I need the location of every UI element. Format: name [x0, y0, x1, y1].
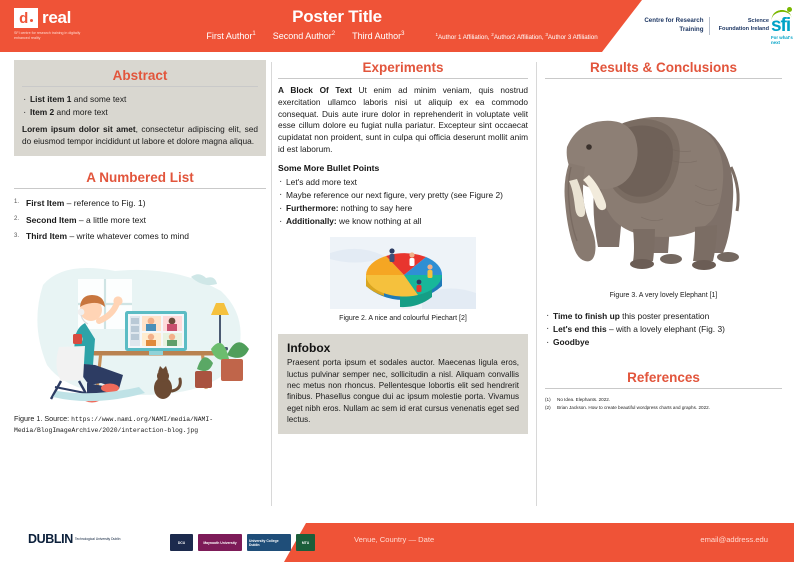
- list-item: Time to finish up this poster presentati…: [545, 310, 782, 322]
- conclusions-bullet-list: Time to finish up this poster presentati…: [545, 310, 782, 349]
- right-column: Results & Conclusions: [545, 60, 782, 412]
- reference-2-text: Brian Jackson. How to create beautiful w…: [557, 404, 710, 412]
- author-3: Third Author3: [352, 31, 404, 41]
- list-item: Maybe reference our next figure, very pr…: [278, 189, 528, 201]
- abstract-bullet-2-rest: and more text: [54, 107, 108, 117]
- numbered-item-3-rest: – write whatever comes to mind: [67, 231, 189, 241]
- tu-dublin-logo: DUBLIN Technological University Dublin: [28, 533, 120, 546]
- abstract-paragraph-bold: Lorem ipsum dolor sit amet: [22, 124, 136, 134]
- abstract-bullet-list: List item 1 and some text Item 2 and mor…: [22, 93, 258, 118]
- numbered-list-title: A Numbered List: [14, 170, 266, 188]
- author-2: Second Author2: [273, 31, 335, 41]
- tu-dublin-wordmark: DUBLIN: [28, 533, 73, 546]
- exp-bullet-2-rest: Maybe reference our next figure, very pr…: [286, 190, 503, 200]
- figure-2-caption: Figure 2. A nice and colourful Piechart …: [278, 314, 528, 324]
- author-2-name: Second Author: [273, 31, 332, 41]
- infobox-text: Praesent porta ipsum et sodales auctor. …: [287, 357, 519, 425]
- numbered-list-section: A Numbered List First Item – reference t…: [14, 170, 266, 243]
- list-item: (2) Brian Jackson. How to create beautif…: [545, 404, 782, 412]
- middle-column: Experiments A Block Of Text Ut enim ad m…: [278, 60, 528, 434]
- experiments-rule: [278, 78, 528, 79]
- list-item: Furthermore: nothing to say here: [278, 202, 528, 214]
- concl-bullet-2-rest: – with a lovely elephant (Fig. 3): [607, 324, 725, 334]
- abstract-bullet-1-rest: and some text: [71, 94, 126, 104]
- exp-bullet-1-rest: Let's add more text: [286, 177, 357, 187]
- author-3-sup: 3: [401, 31, 404, 37]
- concl-bullet-1-rest: this poster presentation: [620, 311, 709, 321]
- infobox-section: Infobox Praesent porta ipsum et sodales …: [278, 334, 528, 434]
- exp-bullet-3-rest: nothing to say here: [339, 203, 413, 213]
- references-list: (1) No Idea. Elephants. 2022. (2) Brian …: [545, 396, 782, 412]
- figure-1-image: [14, 255, 266, 403]
- partner-logos: DCU Maynooth University University Colle…: [170, 534, 315, 551]
- numbered-item-2-bold: Second Item: [26, 215, 77, 225]
- poster-header: d real SFI centre for research training …: [0, 0, 794, 52]
- bullets-heading: Some More Bullet Points: [278, 163, 528, 173]
- list-item: Item 2 and more text: [22, 106, 258, 118]
- infobox-title: Infobox: [287, 341, 519, 355]
- abstract-title: Abstract: [22, 66, 258, 86]
- header-logos-panel: Centre for Research Training Science Fou…: [642, 0, 794, 52]
- figure-1-caption-label: Figure 1. Source:: [14, 414, 69, 423]
- experiments-paragraph-bold: A Block Of Text: [278, 85, 352, 95]
- figure-3-caption: Figure 3. A very lovely Elephant [1]: [545, 291, 782, 301]
- figure-1-caption: Figure 1. Source: https://www.nami.org/N…: [14, 414, 266, 435]
- figure-3-image: [545, 89, 782, 281]
- affiliation-2-text: Author2 Affiliation,: [494, 34, 544, 41]
- experiments-paragraph: A Block Of Text Ut enim ad minim veniam,…: [278, 85, 528, 156]
- footer-rule: [0, 520, 794, 523]
- poster-body: Abstract List item 1 and some text Item …: [0, 52, 794, 520]
- abstract-bullet-2-bold: Item 2: [30, 107, 54, 117]
- list-item: Additionally: we know nothing at all: [278, 215, 528, 227]
- tu-dublin-subtitle: Technological University Dublin: [75, 537, 121, 542]
- concl-bullet-2-bold: Let's end this: [553, 324, 607, 334]
- concl-bullet-1-bold: Time to finish up: [553, 311, 620, 321]
- results-rule: [545, 78, 782, 79]
- experiments-title: Experiments: [278, 60, 528, 78]
- reference-2-number: (2): [545, 404, 554, 412]
- figure-2-image: [330, 237, 476, 309]
- experiments-paragraph-rest: Ut enim ad minim veniam, quis nostrud ex…: [278, 85, 528, 154]
- list-item: Second Item – a little more text: [14, 214, 266, 227]
- exp-bullet-4-rest: we know nothing at all: [337, 216, 422, 226]
- reference-1-number: (1): [545, 396, 554, 404]
- list-item: List item 1 and some text: [22, 93, 258, 105]
- affiliation-3-text: Author 3 Affiliation: [548, 34, 598, 41]
- author-1-sup: 1: [252, 31, 255, 37]
- author-2-sup: 2: [332, 31, 335, 37]
- affiliation-1-text: Author 1 Affiliation,: [438, 34, 489, 41]
- author-1: First Author1: [206, 31, 255, 41]
- list-item: (1) No Idea. Elephants. 2022.: [545, 396, 782, 404]
- list-item: Let's end this – with a lovely elephant …: [545, 323, 782, 335]
- exp-bullet-3-bold: Furthermore:: [286, 203, 339, 213]
- column-divider-1: [271, 62, 272, 506]
- sfi-mark-block: sfi For what's next: [771, 7, 794, 44]
- list-item: Let's add more text: [278, 176, 528, 188]
- abstract-section: Abstract List item 1 and some text Item …: [14, 60, 266, 156]
- left-column: Abstract List item 1 and some text Item …: [14, 60, 266, 435]
- partner-logo-ucd: University College Dublin: [247, 534, 291, 551]
- concl-bullet-3-bold: Goodbye: [553, 337, 589, 347]
- references-section: References (1) No Idea. Elephants. 2022.…: [545, 370, 782, 412]
- results-title: Results & Conclusions: [545, 60, 782, 78]
- numbered-item-1-rest: – reference to Fig. 1): [64, 198, 145, 208]
- list-item: Goodbye: [545, 336, 782, 348]
- affiliations: 1Author 1 Affiliation, 2Author2 Affiliat…: [435, 32, 597, 41]
- abstract-paragraph: Lorem ipsum dolor sit amet, consectetur …: [22, 124, 258, 148]
- references-rule: [545, 388, 782, 389]
- sfi-words: Science Foundation Ireland: [716, 18, 769, 33]
- numbered-list: First Item – reference to Fig. 1) Second…: [14, 197, 266, 243]
- numbered-item-2-rest: – a little more text: [77, 215, 146, 225]
- numbered-list-rule: [14, 188, 266, 189]
- numbered-item-3-bold: Third Item: [26, 231, 67, 241]
- partner-logo-dcu: DCU: [170, 534, 193, 551]
- list-item: First Item – reference to Fig. 1): [14, 197, 266, 210]
- partner-logo-maynooth: Maynooth University: [198, 534, 242, 551]
- sfi-dot-icon: [787, 7, 792, 12]
- crt-label: Centre for Research Training: [642, 17, 710, 35]
- sfi-tagline: For what's next: [771, 35, 794, 45]
- list-item: Third Item – write whatever comes to min…: [14, 230, 266, 243]
- author-1-name: First Author: [206, 31, 252, 41]
- column-divider-2: [536, 62, 537, 506]
- sfi-logo: Science Foundation Ireland sfi For what'…: [716, 7, 794, 44]
- footer-email-text[interactable]: email@address.edu: [700, 535, 768, 544]
- sfi-swoosh-icon: [771, 7, 793, 18]
- partner-logo-mtu: MTU: [296, 534, 315, 551]
- exp-bullet-4-bold: Additionally:: [286, 216, 337, 226]
- abstract-bullet-1-bold: List item 1: [30, 94, 71, 104]
- poster-root: d real SFI centre for research training …: [0, 0, 794, 562]
- numbered-item-1-bold: First Item: [26, 198, 64, 208]
- poster-footer: DUBLIN Technological University Dublin D…: [0, 520, 794, 562]
- references-title: References: [545, 370, 782, 388]
- reference-1-text: No Idea. Elephants. 2022.: [557, 396, 610, 404]
- abstract-rule: [22, 86, 258, 87]
- sfi-mark-text: sfi: [771, 18, 794, 34]
- experiments-bullet-list: Let's add more text Maybe reference our …: [278, 176, 528, 228]
- footer-venue-text: Venue, Country — Date: [354, 535, 434, 544]
- author-3-name: Third Author: [352, 31, 401, 41]
